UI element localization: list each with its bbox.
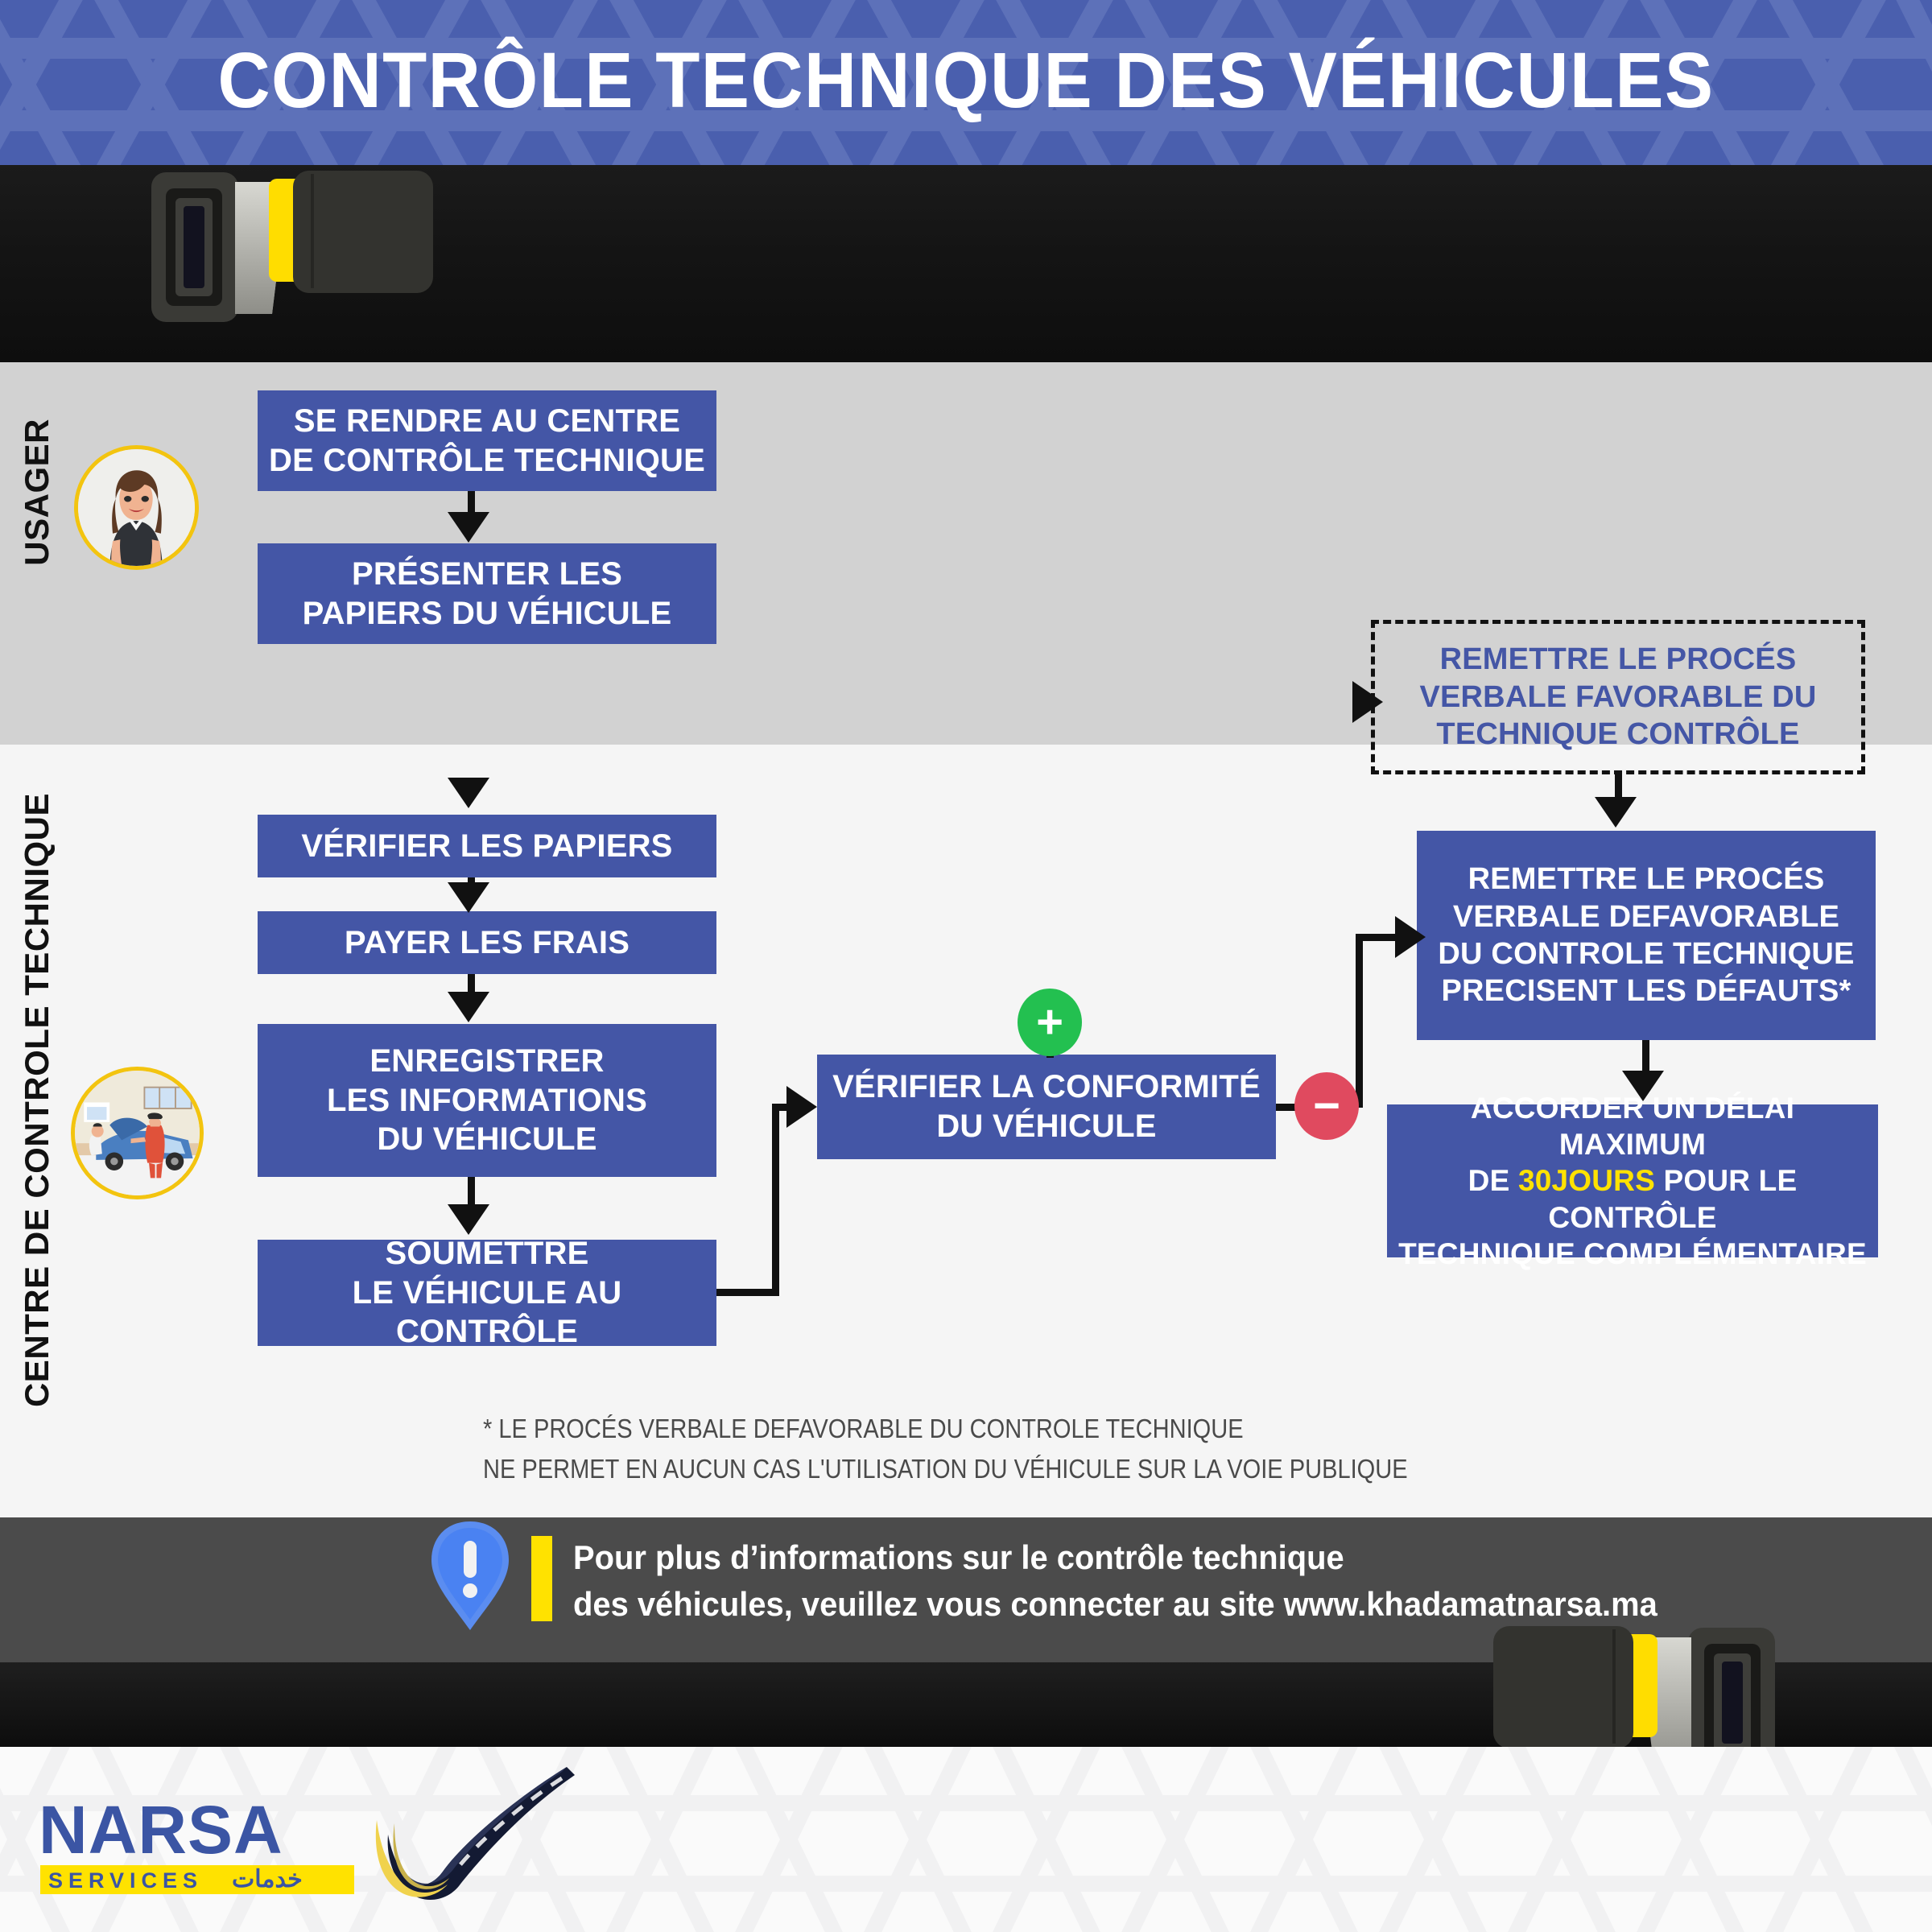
- connector-plus-arrow: [1352, 681, 1383, 723]
- delai-highlight: 30JOURS: [1518, 1164, 1655, 1197]
- connector-minus-v: [1356, 937, 1363, 1108]
- narsa-logo-wordmark: NARSA: [39, 1791, 283, 1869]
- flow-box-soumettre[interactable]: SOUMETTRE LE VÉHICULE AU CONTRÔLE: [258, 1240, 716, 1346]
- infographic-page: CONTRÔLE TECHNIQUE DES VÉHICULES USAGER …: [0, 0, 1932, 1932]
- flow-box-verifier-papiers[interactable]: VÉRIFIER LES PAPIERS: [258, 815, 716, 877]
- page-title: CONTRÔLE TECHNIQUE DES VÉHICULES: [68, 35, 1864, 126]
- narsa-logo-arabic-label: خدمات: [232, 1865, 303, 1893]
- flow-box-accorder-delai[interactable]: ACCORDER UN DÉLAI MAXIMUM DE 30JOURS POU…: [1387, 1104, 1878, 1257]
- header-banner: CONTRÔLE TECHNIQUE DES VÉHICULES: [0, 0, 1932, 165]
- connector-6-v: [772, 1107, 779, 1293]
- connector-8-arrow: [1622, 1071, 1664, 1101]
- mechanic-garage-icon: [71, 1067, 204, 1199]
- seatbelt-buckle-top-icon: [151, 171, 433, 324]
- connector-6-h1: [716, 1289, 779, 1296]
- flow-box-pv-defavorable[interactable]: REMETTRE LE PROCÉS VERBALE DEFAVORABLE D…: [1417, 831, 1876, 1040]
- connector-1-arrow: [448, 512, 489, 543]
- flow-box-pv-favorable[interactable]: REMETTRE LE PROCÉS VERBALE FAVORABLE DU …: [1371, 620, 1865, 774]
- connector-6-arrow: [786, 1086, 817, 1128]
- connector-minus-arrow: [1395, 916, 1426, 958]
- woman-avatar-icon: [74, 445, 199, 570]
- connector-5-arrow: [448, 1204, 489, 1235]
- narsa-logo[interactable]: NARSA SERVICES خدمات: [39, 1791, 570, 1912]
- road-swoosh-icon: [359, 1767, 576, 1905]
- flow-box-enregistrer[interactable]: ENREGISTRER LES INFORMATIONS DU VÉHICULE: [258, 1024, 716, 1177]
- badge-conforme-plus[interactable]: +: [1018, 989, 1082, 1056]
- flow-box-se-rendre[interactable]: SE RENDRE AU CENTRE DE CONTRÔLE TECHNIQU…: [258, 390, 716, 491]
- flow-box-payer-frais[interactable]: PAYER LES FRAIS: [258, 911, 716, 974]
- connector-2-arrow: [448, 778, 489, 808]
- lane-label-centre: CENTRE DE CONTROLE TECHNIQUE: [18, 793, 56, 1407]
- flow-box-presenter[interactable]: PRÉSENTER LES PAPIERS DU VÉHICULE: [258, 543, 716, 644]
- connector-7-arrow: [1595, 797, 1637, 828]
- narsa-logo-services-label: SERVICES: [48, 1868, 203, 1893]
- info-banner-text: Pour plus d’informations sur le contrôle…: [573, 1534, 1812, 1628]
- connector-4-arrow: [448, 992, 489, 1022]
- exclamation-pin-icon: [428, 1521, 512, 1630]
- info-accent-bar: [531, 1536, 552, 1621]
- flow-box-verifier-conformite[interactable]: VÉRIFIER LA CONFORMITÉ DU VÉHICULE: [817, 1055, 1276, 1159]
- lane-label-usager: USAGER: [18, 419, 56, 566]
- footnote-text: * LE PROCÉS VERBALE DEFAVORABLE DU CONTR…: [483, 1409, 1546, 1488]
- connector-minus-h: [1356, 934, 1401, 941]
- connector-3-arrow: [448, 882, 489, 913]
- badge-non-conforme-minus[interactable]: −: [1294, 1072, 1359, 1140]
